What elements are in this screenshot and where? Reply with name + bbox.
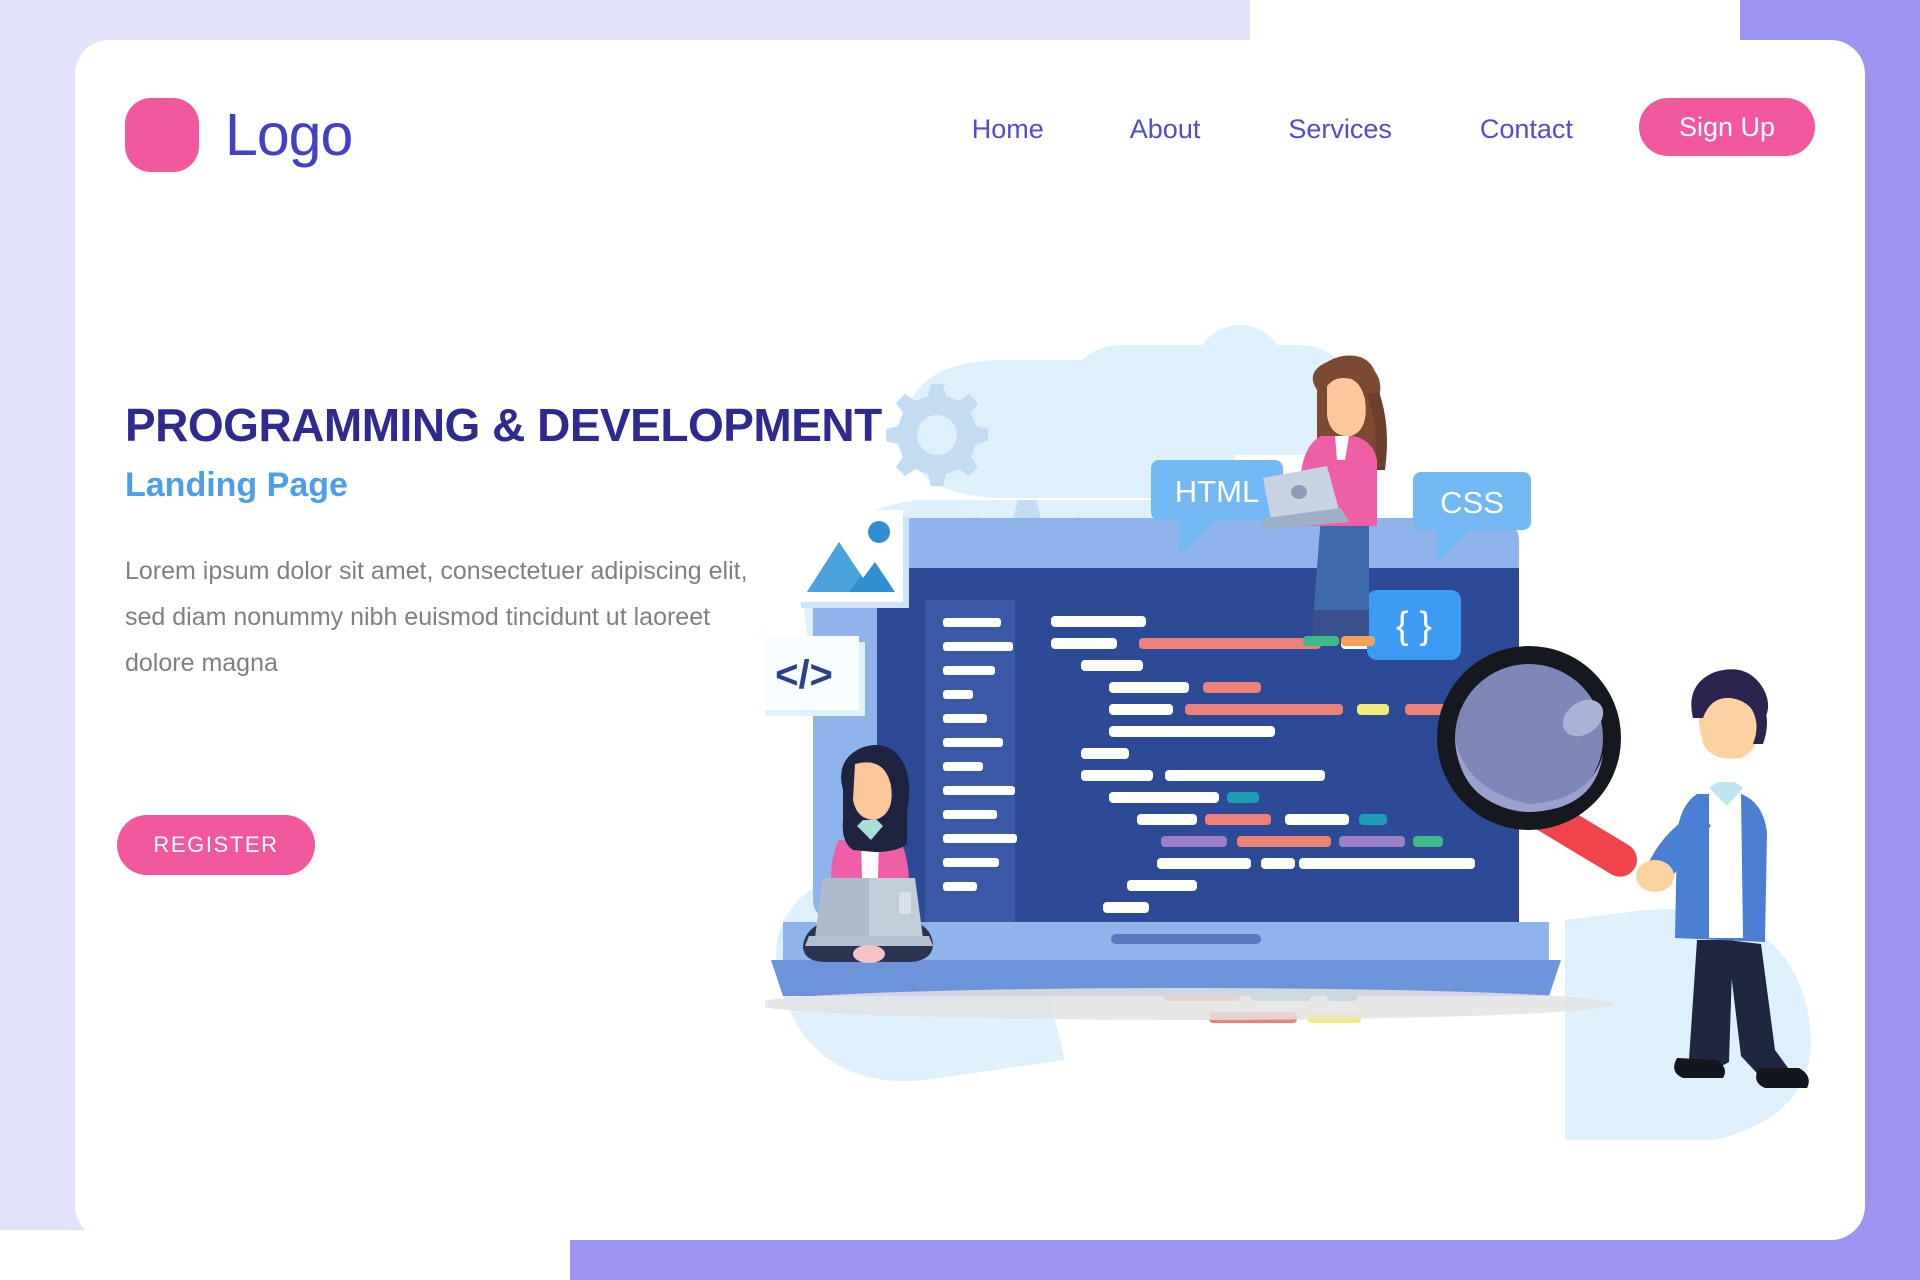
gear-icon-small (886, 384, 988, 486)
sign-up-button[interactable]: Sign Up (1639, 98, 1815, 156)
svg-text:</>: </> (775, 653, 833, 697)
svg-text:CSS: CSS (1440, 485, 1504, 520)
nav-link-about[interactable]: About (1130, 114, 1201, 145)
hero-paragraph: Lorem ipsum dolor sit amet, consectetuer… (125, 548, 765, 687)
page-card: Logo Home About Services Contact Sign Up… (75, 40, 1865, 1240)
logo-mark-icon (125, 98, 199, 172)
svg-text:HTML: HTML (1175, 474, 1259, 509)
nav-link-services[interactable]: Services (1288, 114, 1392, 145)
svg-text:{ }: { } (1396, 605, 1432, 647)
braces-badge: { } (1367, 590, 1461, 660)
register-button[interactable]: REGISTER (117, 815, 315, 875)
nav-link-home[interactable]: Home (972, 114, 1044, 145)
site-header: Logo Home About Services Contact Sign Up (75, 40, 1865, 190)
main-navigation: Home About Services Contact Sign Up (972, 102, 1815, 156)
image-placeholder-icon (795, 510, 909, 608)
background-white-topright (1250, 0, 1750, 30)
hero-illustration: </> HTML CSS { } (765, 320, 1855, 1200)
code-tag-badge: </> (765, 636, 865, 716)
logo-text: Logo (225, 106, 352, 165)
nav-link-contact[interactable]: Contact (1480, 114, 1573, 145)
logo[interactable]: Logo (125, 98, 352, 172)
